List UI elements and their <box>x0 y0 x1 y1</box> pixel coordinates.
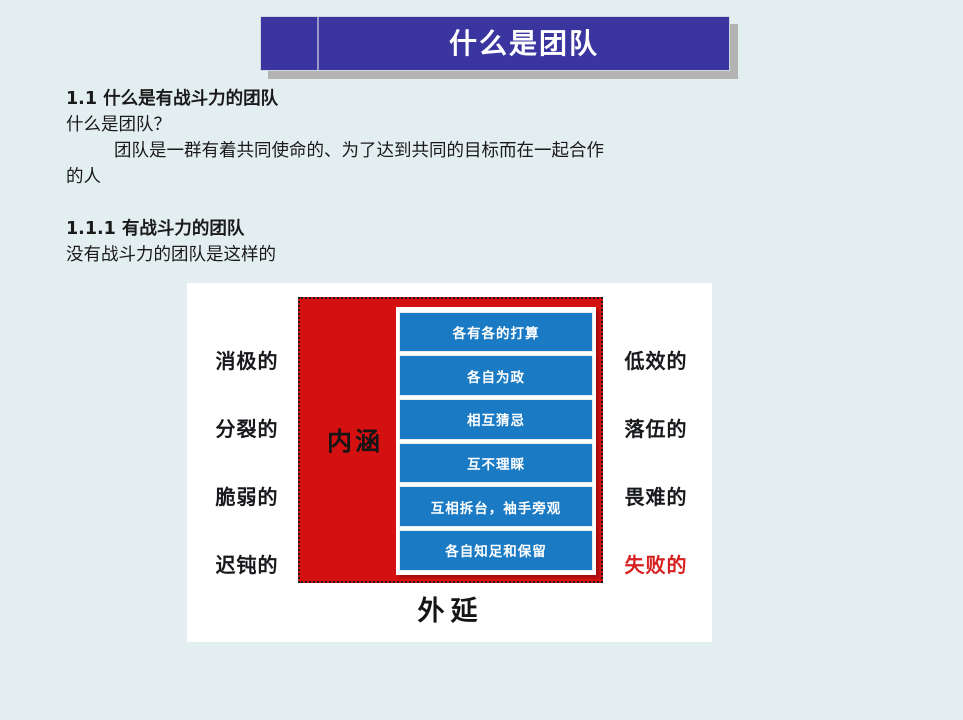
body-line-6: 没有战斗力的团队是这样的 <box>66 242 786 268</box>
title-bar-text-cell: 什么是团队 <box>319 17 729 70</box>
body-line-spacer <box>66 190 786 216</box>
diagram-right-labels: 低效的 落伍的 畏难的 失败的 <box>600 283 712 642</box>
trait-bar-4: 互不理睬 <box>399 443 593 484</box>
diagram-left-labels: 消极的 分裂的 脆弱的 迟钝的 <box>191 283 303 642</box>
diagram-image-panel: 消极的 分裂的 脆弱的 迟钝的 内涵 各有各的打算 各自为政 相互猜忌 互不理睬… <box>187 283 712 642</box>
team-traits-diagram: 消极的 分裂的 脆弱的 迟钝的 内涵 各有各的打算 各自为政 相互猜忌 互不理睬… <box>187 283 712 642</box>
trait-bar-5: 互相拆台，袖手旁观 <box>399 486 593 527</box>
left-label-2: 分裂的 <box>191 419 303 439</box>
core-label-neihan: 内涵 <box>312 422 398 458</box>
slide-title-bar: 什么是团队 <box>260 16 730 71</box>
trait-bar-stack: 各有各的打算 各自为政 相互猜忌 互不理睬 互相拆台，袖手旁观 各自知足和保留 <box>396 307 596 575</box>
right-label-2: 落伍的 <box>600 419 712 439</box>
trait-bar-6: 各自知足和保留 <box>399 530 593 571</box>
diagram-core-panel: 内涵 各有各的打算 各自为政 相互猜忌 互不理睬 互相拆台，袖手旁观 各自知足和… <box>298 297 603 583</box>
right-label-1: 低效的 <box>600 351 712 371</box>
trait-bar-1: 各有各的打算 <box>399 312 593 353</box>
body-line-4: 的人 <box>66 164 786 190</box>
left-label-4: 迟钝的 <box>191 555 303 575</box>
body-line-3: 团队是一群有着共同使命的、为了达到共同的目标而在一起合作 <box>66 138 786 164</box>
base-label-waiyan: 外延 <box>298 589 603 628</box>
trait-bar-2: 各自为政 <box>399 355 593 396</box>
body-line-2: 什么是团队？ <box>66 112 786 138</box>
left-label-3: 脆弱的 <box>191 487 303 507</box>
title-bar-accent-cell <box>261 17 319 70</box>
right-label-3: 畏难的 <box>600 487 712 507</box>
trait-bar-3: 相互猜忌 <box>399 399 593 440</box>
page-title: 什么是团队 <box>449 30 599 58</box>
title-bar-body: 什么是团队 <box>260 16 730 71</box>
body-line-5: 1.1.1 有战斗力的团队 <box>66 216 786 242</box>
right-label-4: 失败的 <box>600 555 712 575</box>
left-label-1: 消极的 <box>191 351 303 371</box>
slide-body-text: 1.1 什么是有战斗力的团队 什么是团队？ 团队是一群有着共同使命的、为了达到共… <box>66 86 786 268</box>
body-line-1: 1.1 什么是有战斗力的团队 <box>66 86 786 112</box>
